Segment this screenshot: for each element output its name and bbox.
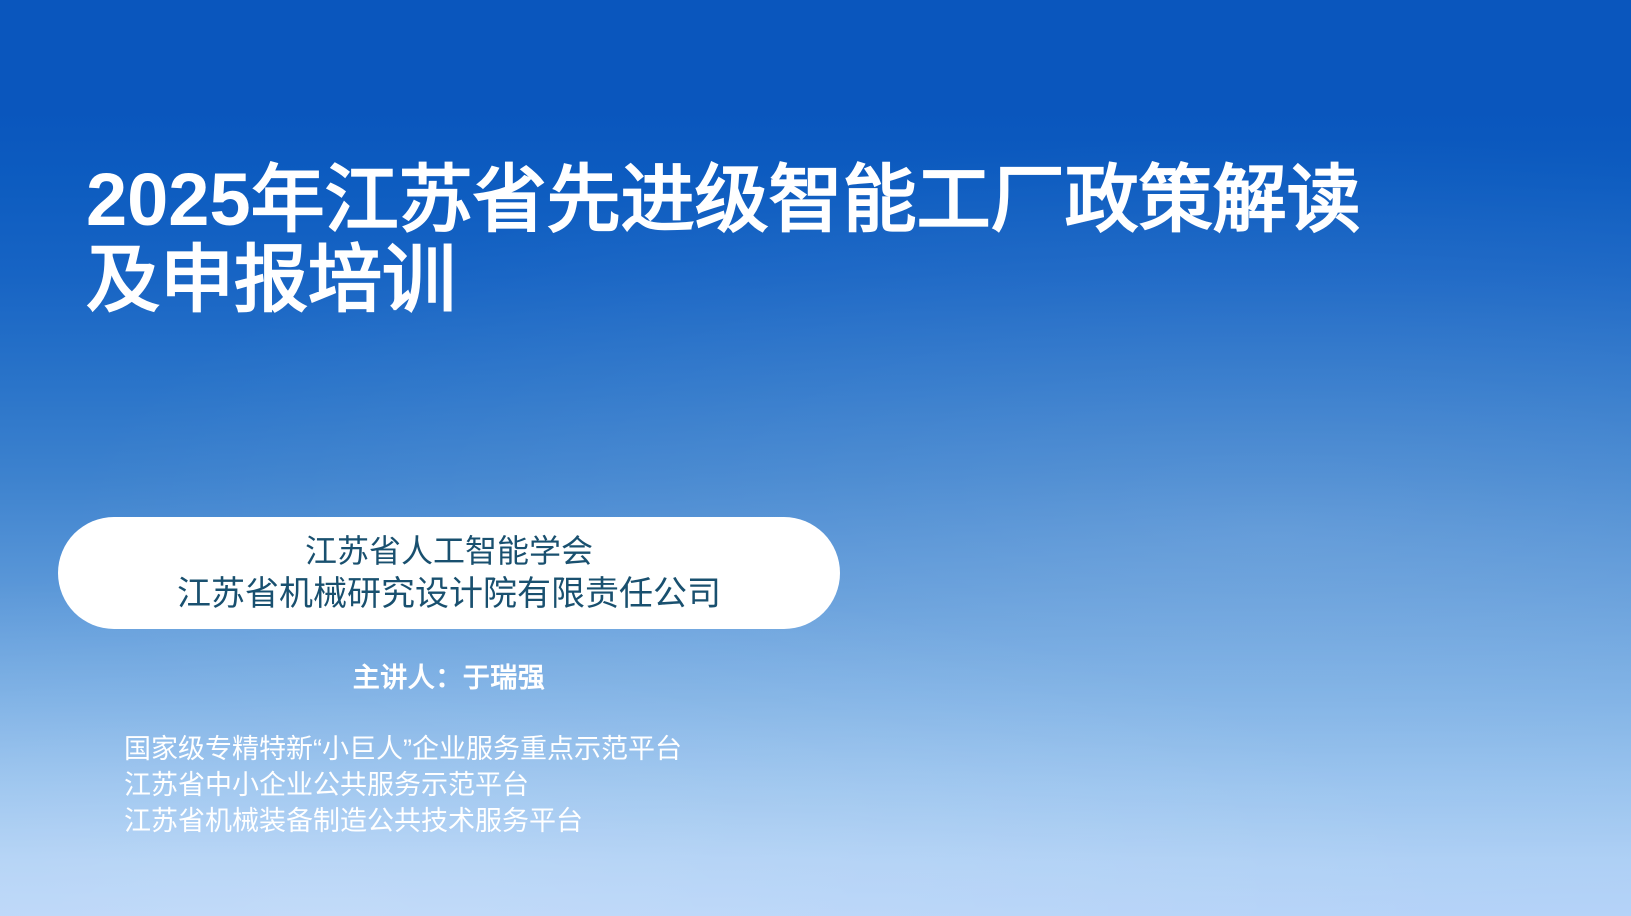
organization-badge: 江苏省人工智能学会 江苏省机械研究设计院有限责任公司 xyxy=(58,517,840,629)
credential-line-3: 江苏省机械装备制造公共技术服务平台 xyxy=(124,803,1024,839)
page-title: 2025年江苏省先进级智能工厂政策解读 及申报培训 xyxy=(86,160,1506,320)
organization-name-secondary: 江苏省机械研究设计院有限责任公司 xyxy=(177,573,721,616)
title-line-2: 及申报培训 xyxy=(86,240,1506,320)
speaker-label: 主讲人：于瑞强 xyxy=(58,660,840,696)
organization-name-primary: 江苏省人工智能学会 xyxy=(305,530,593,573)
title-line-1: 2025年江苏省先进级智能工厂政策解读 xyxy=(86,160,1506,240)
slide-content: 2025年江苏省先进级智能工厂政策解读 及申报培训 江苏省人工智能学会 江苏省机… xyxy=(0,0,1631,916)
credentials-list: 国家级专精特新“小巨人”企业服务重点示范平台 江苏省中小企业公共服务示范平台 江… xyxy=(124,731,1024,839)
credential-line-1: 国家级专精特新“小巨人”企业服务重点示范平台 xyxy=(124,731,1024,767)
credential-line-2: 江苏省中小企业公共服务示范平台 xyxy=(124,767,1024,803)
presentation-slide: 2025年江苏省先进级智能工厂政策解读 及申报培训 江苏省人工智能学会 江苏省机… xyxy=(0,0,1631,916)
